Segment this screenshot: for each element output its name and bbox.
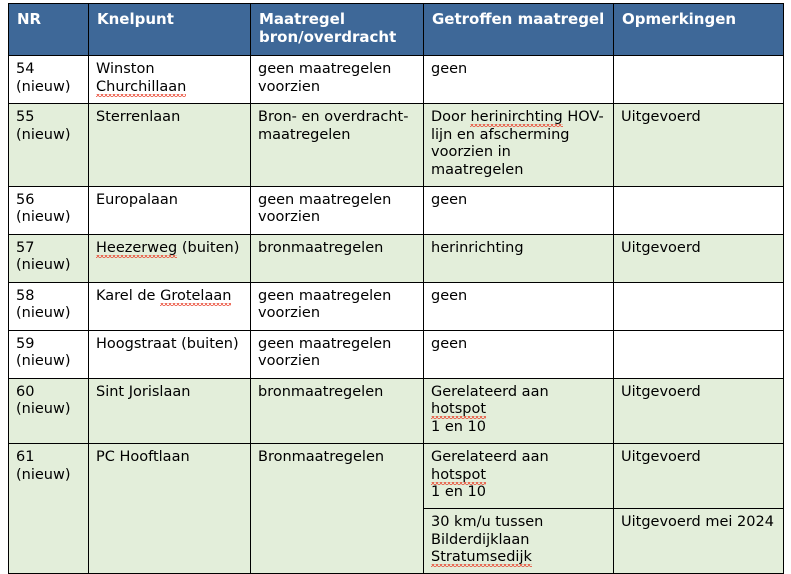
cell-nr: 59 (nieuw) (9, 330, 89, 378)
cell-knelpunt: Hoogstraat (buiten) (89, 330, 251, 378)
spellcheck-underline: Churchillaan (96, 79, 186, 97)
spellcheck-underline: Stratumsedijk (431, 549, 532, 567)
cell-knelpunt: Europalaan (89, 186, 251, 234)
cell-opmerkingen: Uitgevoerd (614, 443, 784, 508)
table-row: 54 (nieuw)Winston Churchillaangeen maatr… (9, 56, 784, 104)
cell-nr: 56 (nieuw) (9, 186, 89, 234)
cell-getroffen: geen (424, 56, 614, 104)
cell-getroffen: geen (424, 330, 614, 378)
column-header-maatregel-bron-overdracht: Maatregel bron/overdracht (251, 4, 424, 56)
table-body: 54 (nieuw)Winston Churchillaangeen maatr… (9, 56, 784, 574)
table-row: 60 (nieuw)Sint JorislaanbronmaatregelenG… (9, 378, 784, 443)
cell-knelpunt: Karel de Grotelaan (89, 282, 251, 330)
spellcheck-underline: Heezerweg (96, 240, 177, 258)
cell-knelpunt: Winston Churchillaan (89, 56, 251, 104)
cell-getroffen: Door herinirchting HOV- lijn en afscherm… (424, 104, 614, 187)
cell-opmerkingen: Uitgevoerd (614, 104, 784, 187)
cell-knelpunt: PC Hooftlaan (89, 443, 251, 573)
cell-maatregel: geen maatregelen voorzien (251, 186, 424, 234)
column-header-knelpunt: Knelpunt (89, 4, 251, 56)
cell-knelpunt: Sint Jorislaan (89, 378, 251, 443)
cell-maatregel: bronmaatregelen (251, 234, 424, 282)
measures-table: NR Knelpunt Maatregel bron/overdracht Ge… (8, 3, 784, 574)
cell-opmerkingen (614, 186, 784, 234)
cell-opmerkingen: Uitgevoerd mei 2024 (614, 508, 784, 573)
table-row: 55 (nieuw)SterrenlaanBron- en overdracht… (9, 104, 784, 187)
table-row: 56 (nieuw)Europalaangeen maatregelen voo… (9, 186, 784, 234)
cell-nr: 60 (nieuw) (9, 378, 89, 443)
cell-maatregel: geen maatregelen voorzien (251, 330, 424, 378)
cell-getroffen: 30 km/u tussen Bilderdijklaan Stratumsed… (424, 508, 614, 573)
cell-maatregel: Bron- en overdracht- maatregelen (251, 104, 424, 187)
spellcheck-underline: hotspot (431, 467, 486, 485)
cell-maatregel: Bronmaatregelen (251, 443, 424, 573)
cell-maatregel: geen maatregelen voorzien (251, 56, 424, 104)
spellcheck-underline: herinirchting (470, 109, 562, 127)
table-row: 57 (nieuw)Heezerweg (buiten)bronmaatrege… (9, 234, 784, 282)
table-row: 58 (nieuw)Karel de Grotelaangeen maatreg… (9, 282, 784, 330)
table-header: NR Knelpunt Maatregel bron/overdracht Ge… (9, 4, 784, 56)
cell-nr: 58 (nieuw) (9, 282, 89, 330)
cell-opmerkingen (614, 56, 784, 104)
cell-opmerkingen: Uitgevoerd (614, 234, 784, 282)
cell-maatregel: bronmaatregelen (251, 378, 424, 443)
spellcheck-underline: Grotelaan (160, 288, 231, 306)
column-header-getroffen-maatregel: Getroffen maatregel (424, 4, 614, 56)
cell-maatregel: geen maatregelen voorzien (251, 282, 424, 330)
cell-getroffen: geen (424, 282, 614, 330)
measures-table-container: NR Knelpunt Maatregel bron/overdracht Ge… (8, 3, 783, 574)
cell-nr: 57 (nieuw) (9, 234, 89, 282)
cell-nr: 54 (nieuw) (9, 56, 89, 104)
cell-getroffen: Gerelateerd aan hotspot 1 en 10 (424, 378, 614, 443)
cell-getroffen: Gerelateerd aan hotspot 1 en 10 (424, 443, 614, 508)
cell-knelpunt: Heezerweg (buiten) (89, 234, 251, 282)
table-row: 59 (nieuw)Hoogstraat (buiten)geen maatre… (9, 330, 784, 378)
cell-opmerkingen (614, 330, 784, 378)
column-header-opmerkingen: Opmerkingen (614, 4, 784, 56)
cell-opmerkingen (614, 282, 784, 330)
cell-nr: 55 (nieuw) (9, 104, 89, 187)
cell-getroffen: herinrichting (424, 234, 614, 282)
spellcheck-underline: hotspot (431, 401, 486, 419)
cell-opmerkingen: Uitgevoerd (614, 378, 784, 443)
column-header-nr: NR (9, 4, 89, 56)
table-header-row: NR Knelpunt Maatregel bron/overdracht Ge… (9, 4, 784, 56)
cell-nr: 61 (nieuw) (9, 443, 89, 573)
cell-knelpunt: Sterrenlaan (89, 104, 251, 187)
cell-getroffen: geen (424, 186, 614, 234)
table-row: 61 (nieuw)PC HooftlaanBronmaatregelenGer… (9, 443, 784, 508)
